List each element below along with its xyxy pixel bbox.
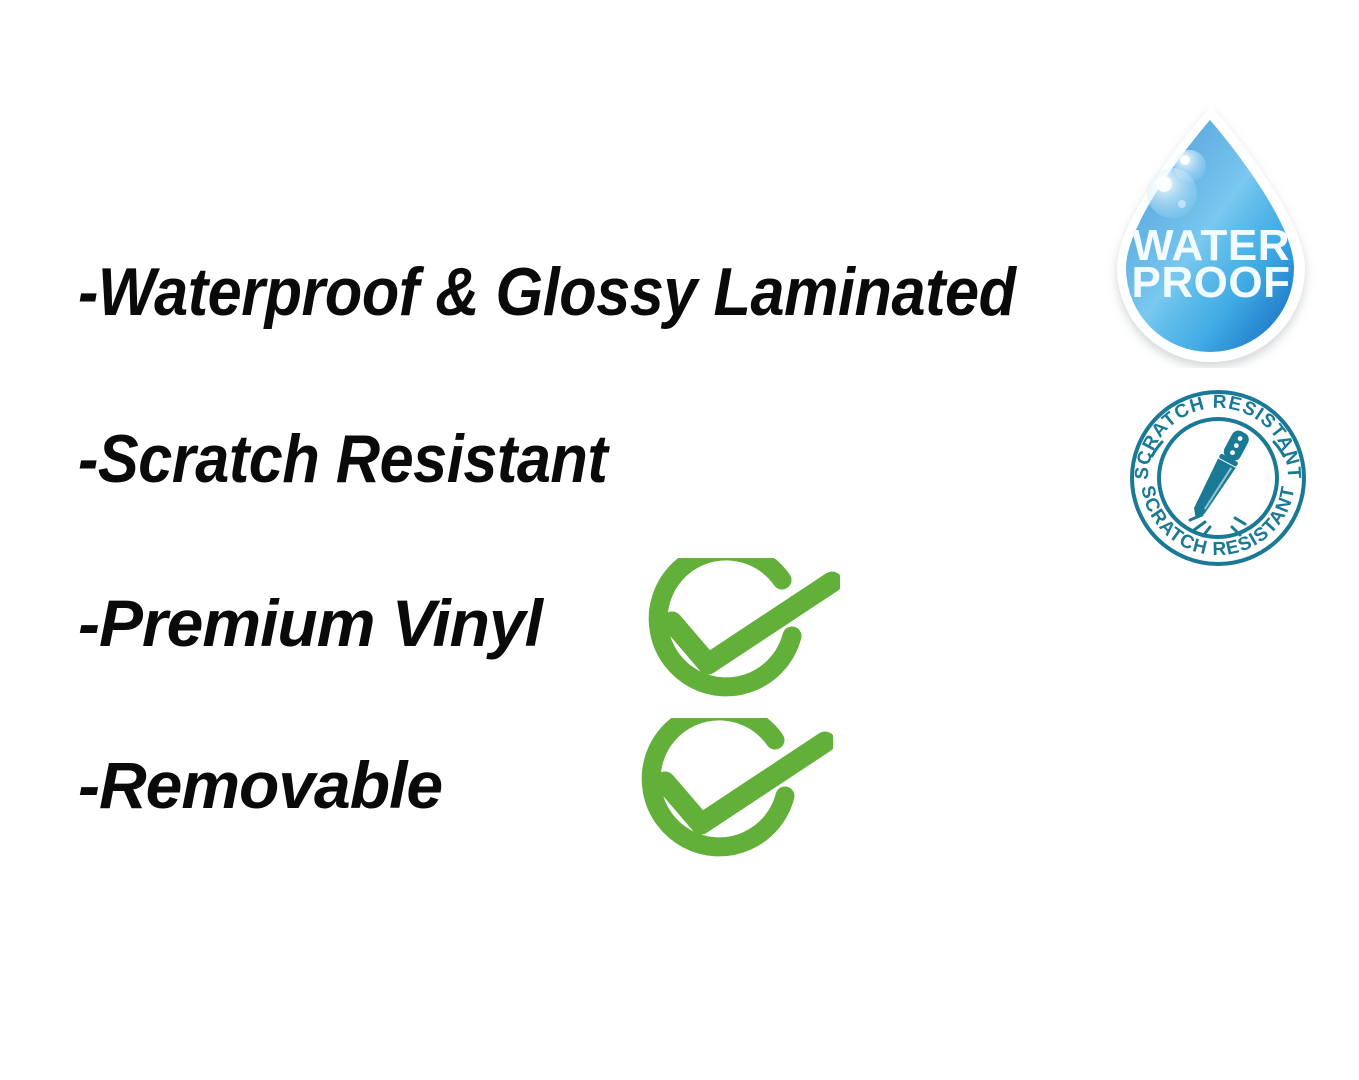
- knife-glyph: [1189, 428, 1253, 524]
- feature-text-premium-vinyl: -Premium Vinyl: [78, 590, 542, 656]
- feature-text-waterproof-glossy-laminated: -Waterproof & Glossy Laminated: [78, 258, 1016, 326]
- knife-seal-icon: SCRATCH RESISTANT SCRATCH RESISTANT: [1128, 388, 1308, 568]
- feature-text-scratch-resistant: -Scratch Resistant: [78, 425, 607, 493]
- product-feature-graphic: -Waterproof & Glossy Laminated -Scratch …: [0, 0, 1359, 1080]
- check-circle-icon: [640, 558, 840, 708]
- check-circle-icon: [633, 718, 833, 868]
- feature-text-removable: -Removable: [78, 752, 442, 818]
- water-drop-icon: WATER PROOF: [1098, 100, 1324, 368]
